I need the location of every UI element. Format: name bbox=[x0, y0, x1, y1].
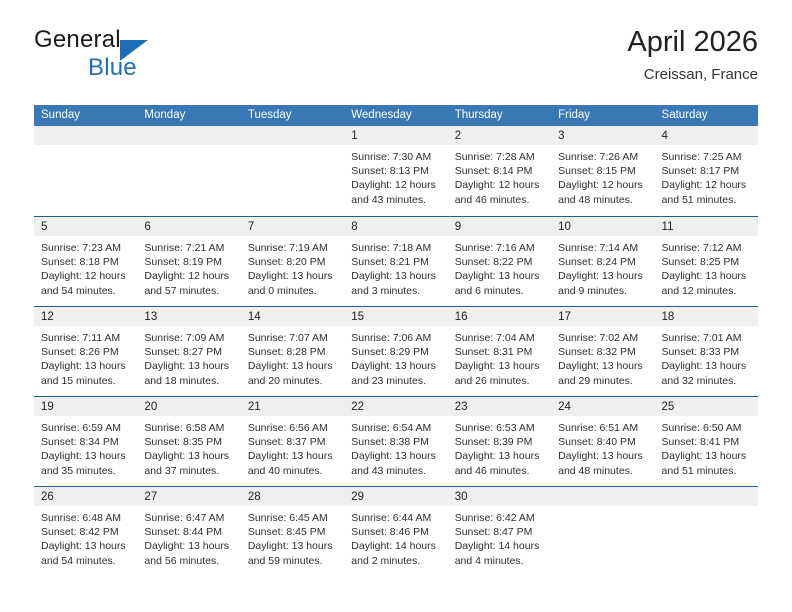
day-number-band: 24 bbox=[551, 397, 654, 416]
day-number-band: 30 bbox=[448, 487, 551, 506]
daylight-text-cont: and 29 minutes. bbox=[558, 374, 647, 388]
sunset-text: Sunset: 8:37 PM bbox=[248, 435, 337, 449]
sunset-text: Sunset: 8:35 PM bbox=[144, 435, 233, 449]
day-details: Sunrise: 7:06 AMSunset: 8:29 PMDaylight:… bbox=[344, 326, 447, 388]
sunset-text: Sunset: 8:34 PM bbox=[41, 435, 130, 449]
day-cell-18[interactable]: 18Sunrise: 7:01 AMSunset: 8:33 PMDayligh… bbox=[655, 307, 758, 396]
sunrise-text: Sunrise: 6:45 AM bbox=[248, 511, 337, 525]
day-details: Sunrise: 6:58 AMSunset: 8:35 PMDaylight:… bbox=[137, 416, 240, 478]
day-cell-19[interactable]: 19Sunrise: 6:59 AMSunset: 8:34 PMDayligh… bbox=[34, 397, 137, 486]
sunset-text: Sunset: 8:19 PM bbox=[144, 255, 233, 269]
sunrise-text: Sunrise: 6:47 AM bbox=[144, 511, 233, 525]
weekday-header-tuesday: Tuesday bbox=[241, 105, 344, 126]
sunrise-text: Sunrise: 6:59 AM bbox=[41, 421, 130, 435]
weekday-header-sunday: Sunday bbox=[34, 105, 137, 126]
daylight-text: Daylight: 12 hours bbox=[558, 178, 647, 192]
day-number: 17 bbox=[558, 311, 571, 323]
day-details: Sunrise: 7:18 AMSunset: 8:21 PMDaylight:… bbox=[344, 236, 447, 298]
daylight-text-cont: and 15 minutes. bbox=[41, 374, 130, 388]
day-cell-29[interactable]: 29Sunrise: 6:44 AMSunset: 8:46 PMDayligh… bbox=[344, 487, 447, 576]
sunset-text: Sunset: 8:46 PM bbox=[351, 525, 440, 539]
day-details: Sunrise: 6:54 AMSunset: 8:38 PMDaylight:… bbox=[344, 416, 447, 478]
daylight-text-cont: and 48 minutes. bbox=[558, 464, 647, 478]
sunset-text: Sunset: 8:32 PM bbox=[558, 345, 647, 359]
day-cell-24[interactable]: 24Sunrise: 6:51 AMSunset: 8:40 PMDayligh… bbox=[551, 397, 654, 486]
day-number: 20 bbox=[144, 401, 157, 413]
day-number: 15 bbox=[351, 311, 364, 323]
sunrise-text: Sunrise: 6:58 AM bbox=[144, 421, 233, 435]
daylight-text-cont: and 26 minutes. bbox=[455, 374, 544, 388]
daylight-text: Daylight: 13 hours bbox=[662, 269, 751, 283]
day-number: 23 bbox=[455, 401, 468, 413]
sunrise-text: Sunrise: 7:06 AM bbox=[351, 331, 440, 345]
day-details: Sunrise: 6:51 AMSunset: 8:40 PMDaylight:… bbox=[551, 416, 654, 478]
day-number-band: 17 bbox=[551, 307, 654, 326]
page-header: General Blue April 2026 Creissan, France bbox=[34, 26, 758, 98]
day-details: Sunrise: 6:44 AMSunset: 8:46 PMDaylight:… bbox=[344, 506, 447, 568]
sunrise-text: Sunrise: 7:04 AM bbox=[455, 331, 544, 345]
daylight-text-cont: and 37 minutes. bbox=[144, 464, 233, 478]
day-details: Sunrise: 7:04 AMSunset: 8:31 PMDaylight:… bbox=[448, 326, 551, 388]
brand-name-bottom: Blue bbox=[88, 54, 137, 82]
day-number-band: 13 bbox=[137, 307, 240, 326]
day-number-band: 5 bbox=[34, 217, 137, 236]
sunrise-text: Sunrise: 7:18 AM bbox=[351, 241, 440, 255]
sunrise-text: Sunrise: 6:42 AM bbox=[455, 511, 544, 525]
day-cell-empty bbox=[137, 126, 240, 216]
day-number: 21 bbox=[248, 401, 261, 413]
sunset-text: Sunset: 8:44 PM bbox=[144, 525, 233, 539]
day-details: Sunrise: 7:28 AMSunset: 8:14 PMDaylight:… bbox=[448, 145, 551, 207]
daylight-text-cont: and 32 minutes. bbox=[662, 374, 751, 388]
day-cell-8[interactable]: 8Sunrise: 7:18 AMSunset: 8:21 PMDaylight… bbox=[344, 217, 447, 306]
daylight-text: Daylight: 13 hours bbox=[662, 359, 751, 373]
daylight-text-cont: and 20 minutes. bbox=[248, 374, 337, 388]
calendar-grid: SundayMondayTuesdayWednesdayThursdayFrid… bbox=[34, 105, 758, 576]
daylight-text: Daylight: 12 hours bbox=[144, 269, 233, 283]
weekday-header-wednesday: Wednesday bbox=[344, 105, 447, 126]
day-number: 11 bbox=[662, 221, 674, 233]
weekday-header-thursday: Thursday bbox=[448, 105, 551, 126]
day-number: 7 bbox=[248, 221, 254, 233]
sunset-text: Sunset: 8:27 PM bbox=[144, 345, 233, 359]
day-cell-empty bbox=[551, 487, 654, 576]
day-cell-26[interactable]: 26Sunrise: 6:48 AMSunset: 8:42 PMDayligh… bbox=[34, 487, 137, 576]
day-details: Sunrise: 6:47 AMSunset: 8:44 PMDaylight:… bbox=[137, 506, 240, 568]
daylight-text: Daylight: 12 hours bbox=[662, 178, 751, 192]
day-cell-21[interactable]: 21Sunrise: 6:56 AMSunset: 8:37 PMDayligh… bbox=[241, 397, 344, 486]
sunset-text: Sunset: 8:15 PM bbox=[558, 164, 647, 178]
daylight-text-cont: and 12 minutes. bbox=[662, 284, 751, 298]
sunrise-text: Sunrise: 7:21 AM bbox=[144, 241, 233, 255]
calendar-week-row: 1Sunrise: 7:30 AMSunset: 8:13 PMDaylight… bbox=[34, 126, 758, 216]
day-cell-28[interactable]: 28Sunrise: 6:45 AMSunset: 8:45 PMDayligh… bbox=[241, 487, 344, 576]
page-title: April 2026 bbox=[627, 24, 758, 60]
sunrise-text: Sunrise: 7:14 AM bbox=[558, 241, 647, 255]
sunrise-text: Sunrise: 7:02 AM bbox=[558, 331, 647, 345]
sunset-text: Sunset: 8:26 PM bbox=[41, 345, 130, 359]
day-cell-23[interactable]: 23Sunrise: 6:53 AMSunset: 8:39 PMDayligh… bbox=[448, 397, 551, 486]
day-number: 6 bbox=[144, 221, 150, 233]
day-cell-9[interactable]: 9Sunrise: 7:16 AMSunset: 8:22 PMDaylight… bbox=[448, 217, 551, 306]
day-details: Sunrise: 7:11 AMSunset: 8:26 PMDaylight:… bbox=[34, 326, 137, 388]
day-number-band: 18 bbox=[655, 307, 758, 326]
sunrise-text: Sunrise: 6:54 AM bbox=[351, 421, 440, 435]
day-cell-3[interactable]: 3Sunrise: 7:26 AMSunset: 8:15 PMDaylight… bbox=[551, 126, 654, 216]
daylight-text-cont: and 3 minutes. bbox=[351, 284, 440, 298]
daylight-text-cont: and 40 minutes. bbox=[248, 464, 337, 478]
day-number-band: 20 bbox=[137, 397, 240, 416]
daylight-text: Daylight: 12 hours bbox=[351, 178, 440, 192]
daylight-text-cont: and 46 minutes. bbox=[455, 464, 544, 478]
calendar-week-row: 19Sunrise: 6:59 AMSunset: 8:34 PMDayligh… bbox=[34, 396, 758, 486]
calendar-week-row: 26Sunrise: 6:48 AMSunset: 8:42 PMDayligh… bbox=[34, 486, 758, 576]
sunrise-text: Sunrise: 7:26 AM bbox=[558, 150, 647, 164]
title-block: April 2026 Creissan, France bbox=[627, 24, 758, 86]
day-details: Sunrise: 7:07 AMSunset: 8:28 PMDaylight:… bbox=[241, 326, 344, 388]
sunrise-text: Sunrise: 7:11 AM bbox=[41, 331, 130, 345]
daylight-text: Daylight: 13 hours bbox=[351, 359, 440, 373]
day-number: 25 bbox=[662, 401, 675, 413]
day-details: Sunrise: 7:21 AMSunset: 8:19 PMDaylight:… bbox=[137, 236, 240, 298]
day-cell-2[interactable]: 2Sunrise: 7:28 AMSunset: 8:14 PMDaylight… bbox=[448, 126, 551, 216]
daylight-text-cont: and 4 minutes. bbox=[455, 554, 544, 568]
day-number-band: 14 bbox=[241, 307, 344, 326]
day-details: Sunrise: 7:16 AMSunset: 8:22 PMDaylight:… bbox=[448, 236, 551, 298]
sunset-text: Sunset: 8:25 PM bbox=[662, 255, 751, 269]
day-number-band: 1 bbox=[344, 126, 447, 145]
day-number: 18 bbox=[662, 311, 675, 323]
day-details: Sunrise: 6:42 AMSunset: 8:47 PMDaylight:… bbox=[448, 506, 551, 568]
sunrise-text: Sunrise: 7:09 AM bbox=[144, 331, 233, 345]
day-number: 24 bbox=[558, 401, 571, 413]
daylight-text-cont: and 46 minutes. bbox=[455, 193, 544, 207]
daylight-text: Daylight: 13 hours bbox=[351, 449, 440, 463]
day-details: Sunrise: 7:14 AMSunset: 8:24 PMDaylight:… bbox=[551, 236, 654, 298]
sunset-text: Sunset: 8:17 PM bbox=[662, 164, 751, 178]
day-number-band: 4 bbox=[655, 126, 758, 145]
sunset-text: Sunset: 8:33 PM bbox=[662, 345, 751, 359]
day-number-band: 22 bbox=[344, 397, 447, 416]
day-number: 2 bbox=[455, 130, 461, 142]
day-number: 4 bbox=[662, 130, 668, 142]
day-details: Sunrise: 7:12 AMSunset: 8:25 PMDaylight:… bbox=[655, 236, 758, 298]
daylight-text: Daylight: 13 hours bbox=[248, 539, 337, 553]
day-number-band: 28 bbox=[241, 487, 344, 506]
daylight-text-cont: and 2 minutes. bbox=[351, 554, 440, 568]
day-cell-16[interactable]: 16Sunrise: 7:04 AMSunset: 8:31 PMDayligh… bbox=[448, 307, 551, 396]
sunset-text: Sunset: 8:24 PM bbox=[558, 255, 647, 269]
day-details: Sunrise: 7:01 AMSunset: 8:33 PMDaylight:… bbox=[655, 326, 758, 388]
weekday-header-row: SundayMondayTuesdayWednesdayThursdayFrid… bbox=[34, 105, 758, 126]
daylight-text: Daylight: 12 hours bbox=[455, 178, 544, 192]
sunrise-text: Sunrise: 7:25 AM bbox=[662, 150, 751, 164]
day-number-band bbox=[137, 126, 240, 145]
day-number-band: 11 bbox=[655, 217, 758, 236]
sunset-text: Sunset: 8:41 PM bbox=[662, 435, 751, 449]
calendar-week-row: 5Sunrise: 7:23 AMSunset: 8:18 PMDaylight… bbox=[34, 216, 758, 306]
day-number: 29 bbox=[351, 491, 364, 503]
daylight-text: Daylight: 13 hours bbox=[248, 359, 337, 373]
daylight-text: Daylight: 13 hours bbox=[558, 359, 647, 373]
sunrise-text: Sunrise: 6:50 AM bbox=[662, 421, 751, 435]
daylight-text-cont: and 56 minutes. bbox=[144, 554, 233, 568]
day-number-band: 27 bbox=[137, 487, 240, 506]
day-number-band: 29 bbox=[344, 487, 447, 506]
day-number: 27 bbox=[144, 491, 157, 503]
daylight-text: Daylight: 13 hours bbox=[248, 449, 337, 463]
sunset-text: Sunset: 8:29 PM bbox=[351, 345, 440, 359]
day-number-band bbox=[241, 126, 344, 145]
day-number-band: 12 bbox=[34, 307, 137, 326]
day-cell-20[interactable]: 20Sunrise: 6:58 AMSunset: 8:35 PMDayligh… bbox=[137, 397, 240, 486]
sunrise-text: Sunrise: 6:53 AM bbox=[455, 421, 544, 435]
day-cell-11[interactable]: 11Sunrise: 7:12 AMSunset: 8:25 PMDayligh… bbox=[655, 217, 758, 306]
day-number-band: 7 bbox=[241, 217, 344, 236]
day-number: 3 bbox=[558, 130, 564, 142]
daylight-text-cont: and 0 minutes. bbox=[248, 284, 337, 298]
day-number-band: 2 bbox=[448, 126, 551, 145]
sunset-text: Sunset: 8:28 PM bbox=[248, 345, 337, 359]
daylight-text: Daylight: 13 hours bbox=[455, 269, 544, 283]
daylight-text-cont: and 18 minutes. bbox=[144, 374, 233, 388]
day-number: 16 bbox=[455, 311, 468, 323]
day-number-band: 23 bbox=[448, 397, 551, 416]
sunrise-text: Sunrise: 6:48 AM bbox=[41, 511, 130, 525]
day-cell-22[interactable]: 22Sunrise: 6:54 AMSunset: 8:38 PMDayligh… bbox=[344, 397, 447, 486]
daylight-text: Daylight: 12 hours bbox=[41, 269, 130, 283]
day-number-band bbox=[655, 487, 758, 506]
location-label: Creissan, France bbox=[627, 64, 758, 86]
sunset-text: Sunset: 8:13 PM bbox=[351, 164, 440, 178]
sunset-text: Sunset: 8:40 PM bbox=[558, 435, 647, 449]
day-cell-7[interactable]: 7Sunrise: 7:19 AMSunset: 8:20 PMDaylight… bbox=[241, 217, 344, 306]
day-number: 19 bbox=[41, 401, 54, 413]
day-number: 26 bbox=[41, 491, 54, 503]
day-cell-27[interactable]: 27Sunrise: 6:47 AMSunset: 8:44 PMDayligh… bbox=[137, 487, 240, 576]
sunset-text: Sunset: 8:42 PM bbox=[41, 525, 130, 539]
brand-logo[interactable]: General Blue bbox=[34, 26, 294, 86]
day-number-band: 9 bbox=[448, 217, 551, 236]
day-details: Sunrise: 7:23 AMSunset: 8:18 PMDaylight:… bbox=[34, 236, 137, 298]
sunrise-text: Sunrise: 7:19 AM bbox=[248, 241, 337, 255]
day-details: Sunrise: 6:48 AMSunset: 8:42 PMDaylight:… bbox=[34, 506, 137, 568]
daylight-text: Daylight: 13 hours bbox=[144, 449, 233, 463]
day-details: Sunrise: 6:50 AMSunset: 8:41 PMDaylight:… bbox=[655, 416, 758, 478]
sunset-text: Sunset: 8:45 PM bbox=[248, 525, 337, 539]
day-number-band: 15 bbox=[344, 307, 447, 326]
daylight-text: Daylight: 13 hours bbox=[41, 359, 130, 373]
sunrise-text: Sunrise: 7:01 AM bbox=[662, 331, 751, 345]
sunset-text: Sunset: 8:20 PM bbox=[248, 255, 337, 269]
day-number: 13 bbox=[144, 311, 157, 323]
day-cell-6[interactable]: 6Sunrise: 7:21 AMSunset: 8:19 PMDaylight… bbox=[137, 217, 240, 306]
daylight-text: Daylight: 13 hours bbox=[558, 269, 647, 283]
day-cell-empty bbox=[34, 126, 137, 216]
day-number: 30 bbox=[455, 491, 468, 503]
day-cell-empty bbox=[241, 126, 344, 216]
day-number-band bbox=[551, 487, 654, 506]
day-number-band: 25 bbox=[655, 397, 758, 416]
day-number-band bbox=[34, 126, 137, 145]
calendar-weeks: 1Sunrise: 7:30 AMSunset: 8:13 PMDaylight… bbox=[34, 126, 758, 576]
daylight-text: Daylight: 13 hours bbox=[144, 359, 233, 373]
daylight-text: Daylight: 13 hours bbox=[351, 269, 440, 283]
day-number-band: 6 bbox=[137, 217, 240, 236]
brand-name-top: General bbox=[34, 26, 121, 54]
daylight-text-cont: and 23 minutes. bbox=[351, 374, 440, 388]
day-details: Sunrise: 6:45 AMSunset: 8:45 PMDaylight:… bbox=[241, 506, 344, 568]
sunset-text: Sunset: 8:21 PM bbox=[351, 255, 440, 269]
day-cell-1[interactable]: 1Sunrise: 7:30 AMSunset: 8:13 PMDaylight… bbox=[344, 126, 447, 216]
sunrise-text: Sunrise: 7:16 AM bbox=[455, 241, 544, 255]
sunrise-text: Sunrise: 7:12 AM bbox=[662, 241, 751, 255]
sunset-text: Sunset: 8:22 PM bbox=[455, 255, 544, 269]
daylight-text: Daylight: 13 hours bbox=[455, 449, 544, 463]
day-details: Sunrise: 7:25 AMSunset: 8:17 PMDaylight:… bbox=[655, 145, 758, 207]
day-number: 22 bbox=[351, 401, 364, 413]
day-number-band: 3 bbox=[551, 126, 654, 145]
day-details: Sunrise: 6:56 AMSunset: 8:37 PMDaylight:… bbox=[241, 416, 344, 478]
day-number-band: 8 bbox=[344, 217, 447, 236]
day-cell-13[interactable]: 13Sunrise: 7:09 AMSunset: 8:27 PMDayligh… bbox=[137, 307, 240, 396]
sunset-text: Sunset: 8:31 PM bbox=[455, 345, 544, 359]
day-cell-empty bbox=[655, 487, 758, 576]
calendar-week-row: 12Sunrise: 7:11 AMSunset: 8:26 PMDayligh… bbox=[34, 306, 758, 396]
day-number: 1 bbox=[351, 130, 357, 142]
day-cell-14[interactable]: 14Sunrise: 7:07 AMSunset: 8:28 PMDayligh… bbox=[241, 307, 344, 396]
sunrise-text: Sunrise: 6:44 AM bbox=[351, 511, 440, 525]
sunrise-text: Sunrise: 7:28 AM bbox=[455, 150, 544, 164]
weekday-header-saturday: Saturday bbox=[655, 105, 758, 126]
sunset-text: Sunset: 8:39 PM bbox=[455, 435, 544, 449]
day-number: 10 bbox=[558, 221, 571, 233]
sunset-text: Sunset: 8:38 PM bbox=[351, 435, 440, 449]
day-number-band: 16 bbox=[448, 307, 551, 326]
daylight-text: Daylight: 14 hours bbox=[455, 539, 544, 553]
daylight-text-cont: and 9 minutes. bbox=[558, 284, 647, 298]
sunrise-text: Sunrise: 7:30 AM bbox=[351, 150, 440, 164]
day-cell-10[interactable]: 10Sunrise: 7:14 AMSunset: 8:24 PMDayligh… bbox=[551, 217, 654, 306]
daylight-text-cont: and 48 minutes. bbox=[558, 193, 647, 207]
sunrise-text: Sunrise: 7:07 AM bbox=[248, 331, 337, 345]
daylight-text: Daylight: 13 hours bbox=[248, 269, 337, 283]
day-number-band: 26 bbox=[34, 487, 137, 506]
sunset-text: Sunset: 8:18 PM bbox=[41, 255, 130, 269]
sunrise-text: Sunrise: 6:51 AM bbox=[558, 421, 647, 435]
day-cell-4[interactable]: 4Sunrise: 7:25 AMSunset: 8:17 PMDaylight… bbox=[655, 126, 758, 216]
daylight-text-cont: and 43 minutes. bbox=[351, 193, 440, 207]
daylight-text-cont: and 51 minutes. bbox=[662, 193, 751, 207]
day-number: 5 bbox=[41, 221, 47, 233]
day-number-band: 10 bbox=[551, 217, 654, 236]
calendar-page: General Blue April 2026 Creissan, France… bbox=[0, 0, 792, 612]
sunset-text: Sunset: 8:47 PM bbox=[455, 525, 544, 539]
day-number-band: 21 bbox=[241, 397, 344, 416]
day-details: Sunrise: 7:02 AMSunset: 8:32 PMDaylight:… bbox=[551, 326, 654, 388]
daylight-text: Daylight: 13 hours bbox=[558, 449, 647, 463]
day-number: 9 bbox=[455, 221, 461, 233]
day-cell-5[interactable]: 5Sunrise: 7:23 AMSunset: 8:18 PMDaylight… bbox=[34, 217, 137, 306]
daylight-text-cont: and 57 minutes. bbox=[144, 284, 233, 298]
daylight-text-cont: and 54 minutes. bbox=[41, 554, 130, 568]
day-details: Sunrise: 7:26 AMSunset: 8:15 PMDaylight:… bbox=[551, 145, 654, 207]
day-cell-12[interactable]: 12Sunrise: 7:11 AMSunset: 8:26 PMDayligh… bbox=[34, 307, 137, 396]
weekday-header-monday: Monday bbox=[137, 105, 240, 126]
weekday-header-friday: Friday bbox=[551, 105, 654, 126]
day-details: Sunrise: 7:09 AMSunset: 8:27 PMDaylight:… bbox=[137, 326, 240, 388]
daylight-text-cont: and 43 minutes. bbox=[351, 464, 440, 478]
day-details: Sunrise: 6:59 AMSunset: 8:34 PMDaylight:… bbox=[34, 416, 137, 478]
daylight-text-cont: and 59 minutes. bbox=[248, 554, 337, 568]
day-number-band: 19 bbox=[34, 397, 137, 416]
day-number: 8 bbox=[351, 221, 357, 233]
day-number: 28 bbox=[248, 491, 261, 503]
daylight-text-cont: and 35 minutes. bbox=[41, 464, 130, 478]
day-details: Sunrise: 7:19 AMSunset: 8:20 PMDaylight:… bbox=[241, 236, 344, 298]
daylight-text: Daylight: 13 hours bbox=[662, 449, 751, 463]
daylight-text-cont: and 54 minutes. bbox=[41, 284, 130, 298]
sunrise-text: Sunrise: 7:23 AM bbox=[41, 241, 130, 255]
day-cell-15[interactable]: 15Sunrise: 7:06 AMSunset: 8:29 PMDayligh… bbox=[344, 307, 447, 396]
day-cell-25[interactable]: 25Sunrise: 6:50 AMSunset: 8:41 PMDayligh… bbox=[655, 397, 758, 486]
day-details: Sunrise: 6:53 AMSunset: 8:39 PMDaylight:… bbox=[448, 416, 551, 478]
sunset-text: Sunset: 8:14 PM bbox=[455, 164, 544, 178]
day-number: 14 bbox=[248, 311, 261, 323]
day-cell-30[interactable]: 30Sunrise: 6:42 AMSunset: 8:47 PMDayligh… bbox=[448, 487, 551, 576]
daylight-text-cont: and 6 minutes. bbox=[455, 284, 544, 298]
day-details: Sunrise: 7:30 AMSunset: 8:13 PMDaylight:… bbox=[344, 145, 447, 207]
daylight-text: Daylight: 13 hours bbox=[41, 539, 130, 553]
daylight-text: Daylight: 13 hours bbox=[41, 449, 130, 463]
day-cell-17[interactable]: 17Sunrise: 7:02 AMSunset: 8:32 PMDayligh… bbox=[551, 307, 654, 396]
daylight-text: Daylight: 13 hours bbox=[455, 359, 544, 373]
daylight-text-cont: and 51 minutes. bbox=[662, 464, 751, 478]
sunrise-text: Sunrise: 6:56 AM bbox=[248, 421, 337, 435]
daylight-text: Daylight: 14 hours bbox=[351, 539, 440, 553]
day-number: 12 bbox=[41, 311, 54, 323]
daylight-text: Daylight: 13 hours bbox=[144, 539, 233, 553]
